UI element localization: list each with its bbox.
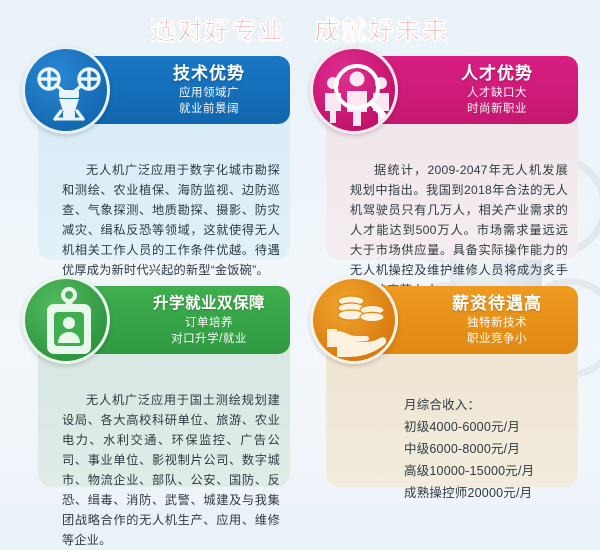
salary-row-intermediate: 中级6000-8000元/月 (404, 438, 570, 460)
card-header-pill: 人才优势 人才缺口大 时尚新职业 (368, 56, 578, 124)
card-heading: 薪资待遇高 (428, 293, 566, 315)
people-search-icon (310, 46, 398, 134)
card-grid: 无人机广泛应用于数字化城市勘探和测绘、农业植保、海防监视、边防巡查、气象探测、地… (0, 46, 600, 496)
id-badge-icon (22, 276, 110, 364)
card-body-text: 无人机广泛应用于数字化城市勘探和测绘、农业植保、海防监视、边防巡查、气象探测、地… (62, 160, 280, 280)
card-subtitle-1: 订单培养 (140, 315, 278, 331)
card-tech-advantage: 无人机广泛应用于数字化城市勘探和测绘、农业植保、海防监视、边防巡查、气象探测、地… (22, 46, 290, 264)
page-title: 选对好专业 成就好未来 (0, 11, 600, 47)
salary-label: 月综合收入： (404, 394, 570, 416)
salary-row-senior: 高级10000-15000元/月 (404, 460, 570, 482)
salary-row-expert: 成熟操控师20000元/月 (404, 482, 570, 504)
card-header-pill: 薪资待遇高 独特新技术 职业竞争小 (368, 286, 578, 354)
card-talent-advantage: 据统计，2009-2047年无人机发展规划中指出。我国到2018年合法的无人机驾… (310, 46, 578, 264)
salary-block: 月综合收入： 初级4000-6000元/月 中级6000-8000元/月 高级1… (404, 394, 570, 504)
card-heading: 技术优势 (140, 63, 278, 85)
card-subtitle-2: 时尚新职业 (428, 101, 566, 117)
card-subtitle-2: 职业竞争小 (428, 331, 566, 347)
card-education-employment: 无人机广泛应用于国土测绘规划建设局、各大高校科研单位、旅游、农业电力、水利交通、… (22, 276, 290, 491)
card-subtitle-1: 应用领域广 (140, 85, 278, 101)
title-part-2: 成就好未来 (314, 11, 449, 47)
card-header-pill: 升学就业双保障 订单培养 对口升学/就业 (80, 286, 290, 354)
salary-row-junior: 初级4000-6000元/月 (404, 416, 570, 438)
hand-coins-icon (310, 276, 398, 364)
card-body-text: 无人机广泛应用于国土测绘规划建设局、各大高校科研单位、旅游、农业电力、水利交通、… (62, 390, 280, 550)
card-subtitle-1: 人才缺口大 (428, 85, 566, 101)
card-subtitle-2: 就业前景阔 (140, 101, 278, 117)
card-subtitle-2: 对口升学/就业 (140, 331, 278, 347)
drone-icon (22, 46, 110, 134)
card-header-pill: 技术优势 应用领域广 就业前景阔 (80, 56, 290, 124)
card-heading: 升学就业双保障 (140, 293, 278, 315)
title-part-1: 选对好专业 (151, 11, 286, 47)
card-heading: 人才优势 (428, 63, 566, 85)
card-subtitle-1: 独特新技术 (428, 315, 566, 331)
card-high-salary: 月综合收入： 初级4000-6000元/月 中级6000-8000元/月 高级1… (310, 276, 578, 491)
